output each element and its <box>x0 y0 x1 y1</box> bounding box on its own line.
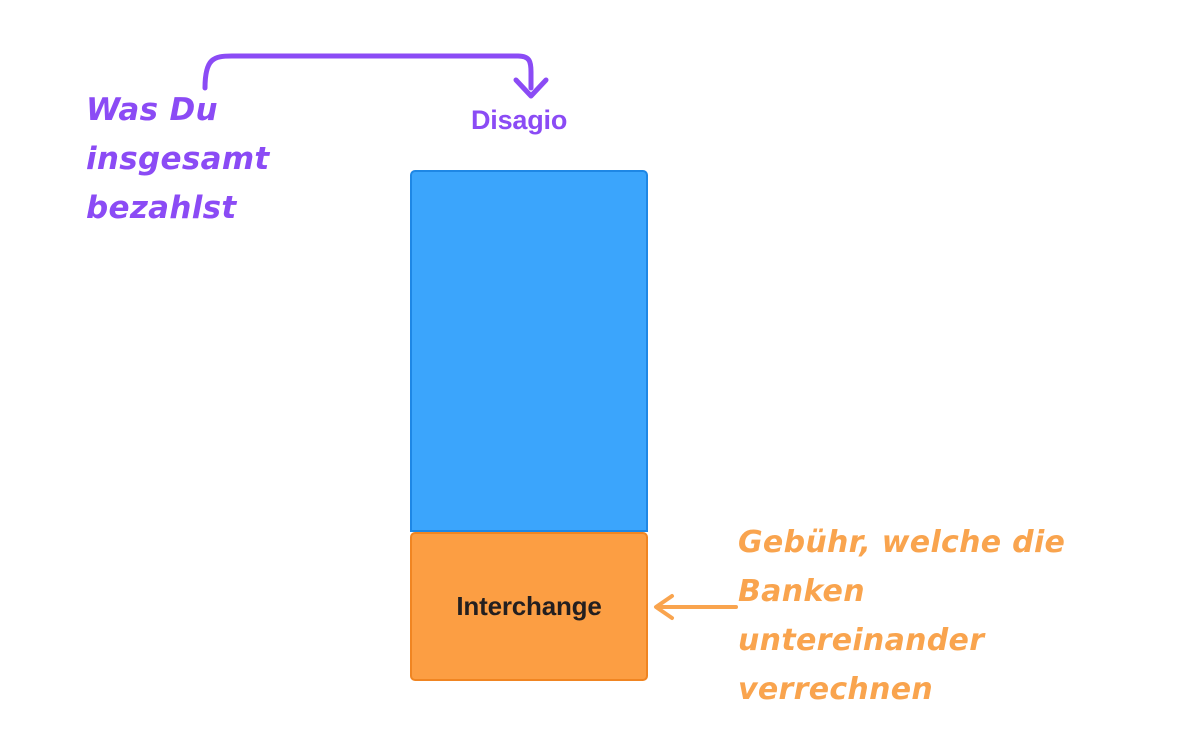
annotation-total-paid: Was Du insgesamt bezahlst <box>86 86 376 233</box>
straight-arrow-left-icon <box>656 596 736 618</box>
bar-segment-disagio <box>410 170 648 532</box>
bar-segment-label-disagio: Disagio <box>471 105 567 136</box>
bar-segment-label-interchange: Interchange <box>456 591 601 622</box>
bar-segment-interchange: Interchange <box>410 532 648 681</box>
diagram-canvas: Was Du insgesamt bezahlst Disagio Interc… <box>0 0 1200 740</box>
stacked-bar: Interchange <box>410 170 648 681</box>
annotation-interbank-fee: Gebühr, welche die Banken untereinander … <box>738 518 1158 714</box>
